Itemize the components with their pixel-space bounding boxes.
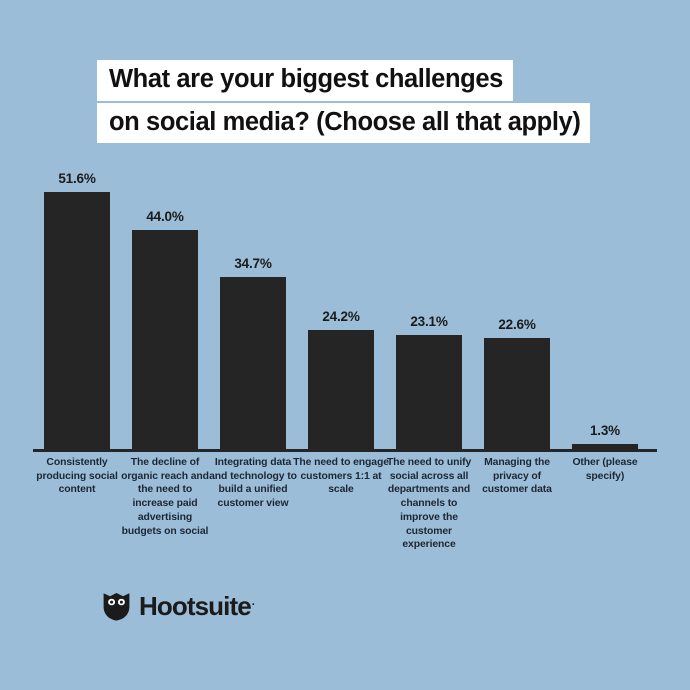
bar-group: 23.1% — [396, 175, 462, 451]
bar-value-label: 44.0% — [118, 209, 212, 224]
bar-value-label: 23.1% — [382, 314, 476, 329]
bar-value-label: 24.2% — [294, 309, 388, 324]
bar[interactable] — [132, 230, 198, 451]
category-label: Consistently producing social content — [29, 456, 125, 497]
bar-value-label: 1.3% — [558, 423, 652, 438]
bar[interactable] — [44, 192, 110, 451]
category-label: The need to unify social across all depa… — [381, 456, 477, 552]
bar-group: 1.3% — [572, 175, 638, 451]
bar-value-label: 51.6% — [30, 171, 124, 186]
bar-group: 34.7% — [220, 175, 286, 451]
hootsuite-logo: Hootsuite · — [103, 590, 255, 621]
x-axis-baseline — [33, 449, 657, 452]
bar-group: 24.2% — [308, 175, 374, 451]
bar[interactable] — [220, 277, 286, 451]
bar[interactable] — [308, 330, 374, 451]
bar-group: 44.0% — [132, 175, 198, 451]
category-label: Other (please specify) — [557, 456, 653, 483]
trademark-mark: · — [252, 599, 256, 611]
x-axis-category-labels: Consistently producing social contentThe… — [33, 456, 657, 566]
bar-value-label: 22.6% — [470, 317, 564, 332]
plot-area: 51.6%44.0%34.7%24.2%23.1%22.6%1.3% — [33, 175, 657, 451]
bar[interactable] — [396, 335, 462, 451]
brand-wordmark: Hootsuite — [139, 593, 251, 619]
category-label: The need to engage customers 1:1 at scal… — [293, 456, 389, 497]
bar-chart: 51.6%44.0%34.7%24.2%23.1%22.6%1.3% Consi… — [0, 0, 690, 690]
bar[interactable] — [484, 338, 550, 451]
bar-group: 51.6% — [44, 175, 110, 451]
category-label: Integrating data and technology to build… — [205, 456, 301, 511]
category-label: Managing the privacy of customer data — [469, 456, 565, 497]
category-label: The decline of organic reach and the nee… — [117, 456, 213, 538]
owl-icon — [103, 590, 130, 621]
bar-group: 22.6% — [484, 175, 550, 451]
bar-value-label: 34.7% — [206, 256, 300, 271]
